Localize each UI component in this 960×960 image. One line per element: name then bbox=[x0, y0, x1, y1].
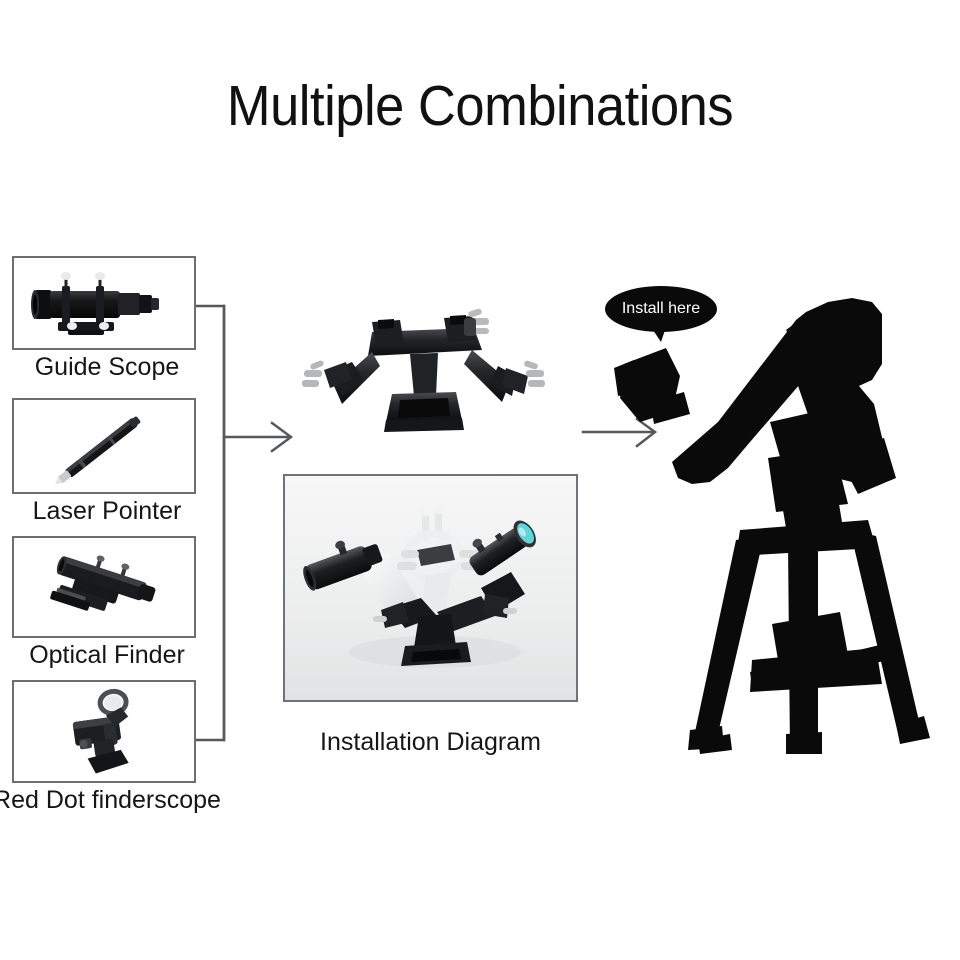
accessory-red-dot-finderscope[interactable]: Red Dot finderscope bbox=[12, 680, 196, 783]
multi-finder-bracket-icon[interactable] bbox=[276, 300, 566, 450]
accessory-label: Optical Finder bbox=[0, 640, 232, 670]
guide-scope-icon bbox=[12, 256, 196, 350]
callout-label: Install here bbox=[605, 286, 717, 332]
installation-diagram-icon bbox=[285, 476, 576, 700]
accessory-label: Laser Pointer bbox=[0, 496, 232, 526]
telescope-silhouette-icon bbox=[600, 272, 960, 772]
accessory-label: Guide Scope bbox=[0, 352, 232, 382]
optical-finder-icon bbox=[12, 536, 196, 638]
accessory-label: Red Dot finderscope bbox=[0, 785, 232, 815]
accessory-laser-pointer[interactable]: Laser Pointer bbox=[12, 398, 196, 494]
installation-diagram-caption: Installation Diagram bbox=[283, 727, 578, 757]
accessory-guide-scope[interactable]: Guide Scope bbox=[12, 256, 196, 350]
accessory-optical-finder[interactable]: Optical Finder bbox=[12, 536, 196, 638]
installation-diagram-card[interactable] bbox=[283, 474, 578, 702]
laser-pointer-icon bbox=[12, 398, 196, 494]
install-here-callout: Install here bbox=[605, 286, 717, 342]
red-dot-finderscope-icon bbox=[12, 680, 196, 783]
slide-canvas: Multiple Combinations bbox=[0, 0, 960, 960]
